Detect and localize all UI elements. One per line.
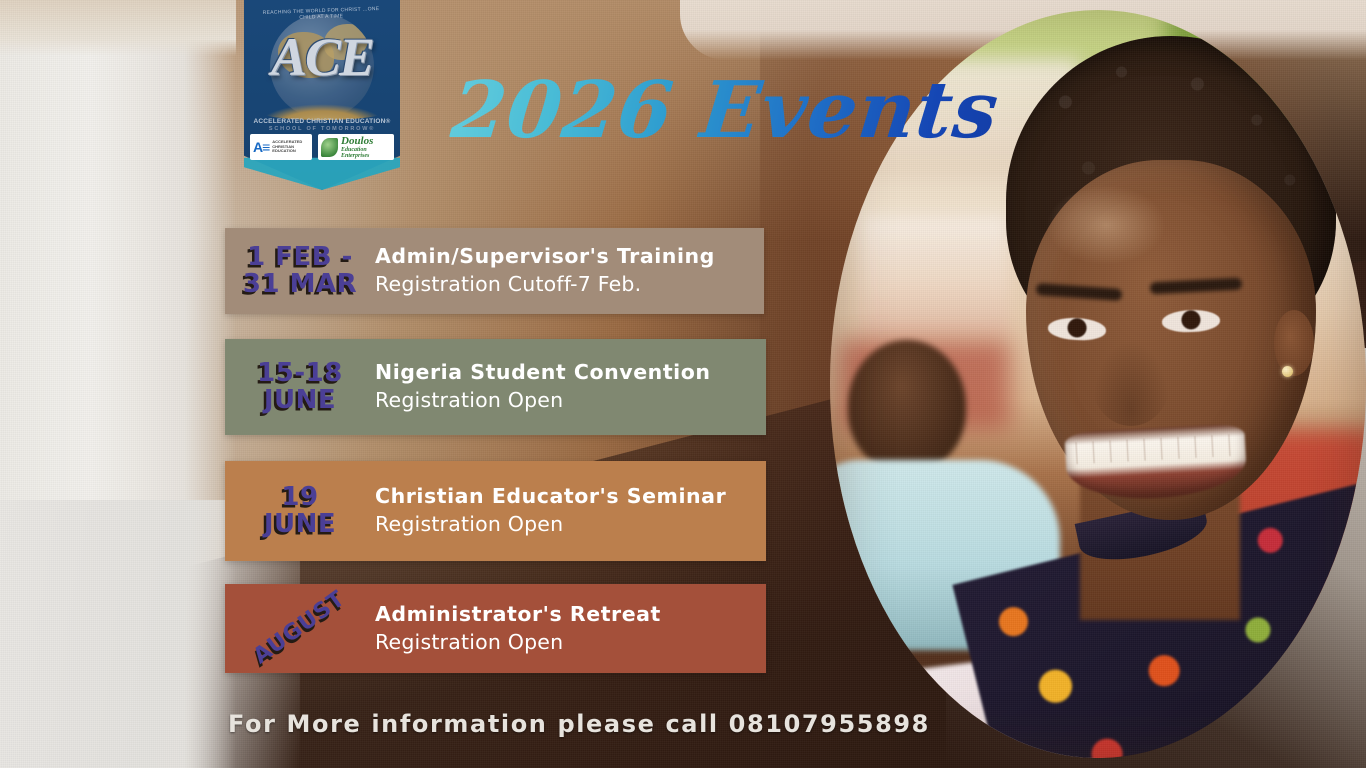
logo-subtitle-primary: ACCELERATED CHRISTIAN EDUCATION® [244,118,400,125]
badge-ace-subtext: ACCELERATED CHRISTIAN EDUCATION [272,140,309,154]
badge-ace-mark: A≡ [253,139,269,155]
logo-subtitle-secondary: SCHOOL OF TOMORROW® [244,126,400,132]
badge-doulos-text: Doulos Education Enterprises [341,136,391,159]
event-date: 15-18JUNE [225,360,375,414]
event-date: 1 FEB -31 MAR [225,244,375,298]
page-title: 2026 Events [448,72,1003,150]
event-date: AUGUST [233,575,368,682]
event-subtitle: Registration Open [375,511,754,539]
ace-logo[interactable]: REACHING THE WORLD FOR CHRIST ...ONE CHI… [244,0,400,190]
badge-doulos: Doulos Education Enterprises [318,134,394,160]
badge-doulos-subtext: Education Enterprises [341,147,391,159]
event-details: Administrator's Retreat Registration Ope… [375,601,766,656]
event-row[interactable]: 15-18JUNE Nigeria Student Convention Reg… [225,339,766,435]
event-row[interactable]: 19JUNE Christian Educator's Seminar Regi… [225,461,766,561]
badge-ace: A≡ ACCELERATED CHRISTIAN EDUCATION [250,134,312,160]
event-subtitle: Registration Cutoff-7 Feb. [375,271,752,299]
event-subtitle: Registration Open [375,629,754,657]
event-details: Admin/Supervisor's Training Registration… [375,243,764,298]
logo-partner-badges: A≡ ACCELERATED CHRISTIAN EDUCATION Doulo… [250,134,394,160]
event-date: 19JUNE [225,484,375,538]
badge-doulos-name: Doulos [341,136,391,147]
leaf-icon [321,138,338,157]
logo-monogram: ACE [244,26,400,88]
event-details: Christian Educator's Seminar Registratio… [375,483,766,538]
event-row[interactable]: AUGUST Administrator's Retreat Registrat… [225,584,766,673]
event-title: Admin/Supervisor's Training [375,243,752,271]
event-title: Christian Educator's Seminar [375,483,754,511]
contact-footer: For More information please call 0810795… [228,710,968,738]
event-poster: REACHING THE WORLD FOR CHRIST ...ONE CHI… [0,0,1366,768]
event-row[interactable]: 1 FEB -31 MAR Admin/Supervisor's Trainin… [225,228,764,314]
event-title: Nigeria Student Convention [375,359,754,387]
event-title: Administrator's Retreat [375,601,754,629]
event-subtitle: Registration Open [375,387,754,415]
event-details: Nigeria Student Convention Registration … [375,359,766,414]
